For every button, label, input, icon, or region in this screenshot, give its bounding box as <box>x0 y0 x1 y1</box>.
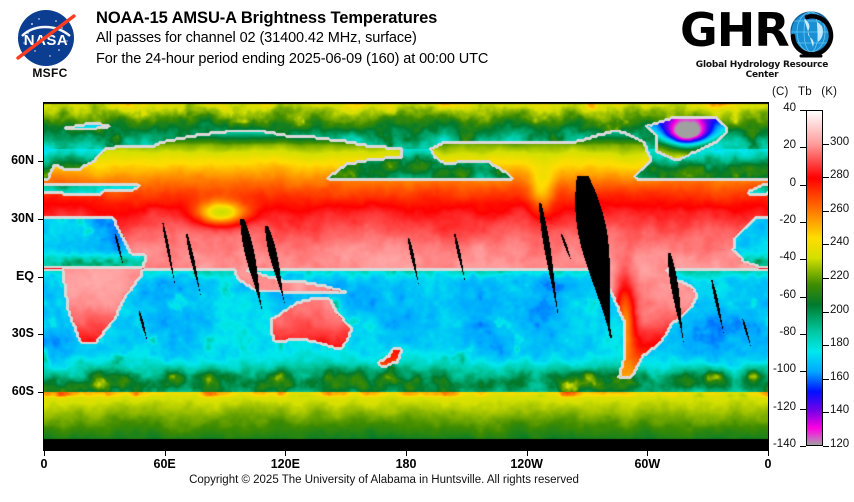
colorbar-unit-kelvin: (K) <box>821 86 837 98</box>
svg-text:GHR: GHR <box>680 6 789 57</box>
lon-tick <box>406 450 407 456</box>
colorbar-unit-celsius: (C) <box>772 86 789 98</box>
colorbar-kelvin-label: 260 <box>830 203 849 215</box>
lat-label-60n: 60N <box>11 153 34 167</box>
colorbar-kelvin-label: 160 <box>830 371 849 383</box>
colorbar-kelvin-label: 280 <box>830 169 849 181</box>
colorbar-celsius-label: -40 <box>758 251 796 263</box>
colorbar-kelvin-label: 300 <box>830 136 849 148</box>
ghrc-wordmark-svg: GHR <box>680 6 840 58</box>
lon-tick <box>44 450 45 456</box>
colorbar-gradient <box>806 110 823 446</box>
lat-tick <box>38 219 44 220</box>
lon-tick <box>768 450 769 456</box>
lon-label-4: 120W <box>497 457 557 471</box>
subtitle-channel: All passes for channel 02 (31400.42 MHz,… <box>96 28 488 49</box>
lon-label-1: 60E <box>135 457 195 471</box>
colorbar-tick <box>823 446 829 447</box>
lon-label-6: 0 <box>738 457 798 471</box>
lat-label-30n: 30N <box>11 211 34 225</box>
colorbar-tick <box>800 371 806 372</box>
lon-label-5: 60W <box>617 457 677 471</box>
colorbar-celsius-label: -20 <box>758 214 796 226</box>
lat-tick <box>38 277 44 278</box>
colorbar-tick <box>800 147 806 148</box>
subtitle-period: For the 24-hour period ending 2025-06-09… <box>96 49 488 70</box>
colorbar-kelvin-label: 180 <box>830 337 849 349</box>
colorbar-celsius-label: -140 <box>758 438 796 450</box>
colorbar-celsius-label: -80 <box>758 326 796 338</box>
colorbar-tick <box>800 222 806 223</box>
lat-label-eq: EQ <box>16 269 34 283</box>
msfc-label: MSFC <box>12 66 88 80</box>
colorbar-tick <box>800 446 806 447</box>
brightness-temperature-map[interactable] <box>44 103 768 450</box>
colorbar-celsius-label: 20 <box>758 139 796 151</box>
colorbar-tick <box>800 297 806 298</box>
colorbar-kelvin-label: 240 <box>830 236 849 248</box>
colorbar-tick <box>823 312 829 313</box>
colorbar-tick <box>800 409 806 410</box>
colorbar-celsius-label: 0 <box>758 177 796 189</box>
lon-label-0: 0 <box>14 457 74 471</box>
colorbar-celsius-label: 40 <box>758 102 796 114</box>
colorbar-tick <box>823 244 829 245</box>
colorbar-celsius-label: -120 <box>758 401 796 413</box>
lon-tick <box>285 450 286 456</box>
lon-tick <box>527 450 528 456</box>
lat-label-30s: 30S <box>12 326 34 340</box>
colorbar-tick <box>823 278 829 279</box>
colorbar-tick <box>800 110 806 111</box>
colorbar-tick <box>823 412 829 413</box>
colorbar-kelvin-label: 200 <box>830 304 849 316</box>
copyright-notice: Copyright © 2025 The University of Alaba… <box>0 474 768 486</box>
colorbar-celsius-label: -100 <box>758 363 796 375</box>
page-title: NOAA-15 AMSU-A Brightness Temperatures <box>96 8 488 28</box>
lon-label-3: 180 <box>376 457 436 471</box>
lat-label-60s: 60S <box>12 384 34 398</box>
colorbar-tick <box>800 259 806 260</box>
lat-tick <box>38 334 44 335</box>
colorbar-tick <box>823 144 829 145</box>
colorbar-kelvin-label: 120 <box>830 438 849 450</box>
globe-icon <box>791 12 831 57</box>
colorbar-tick <box>823 379 829 380</box>
lon-label-2: 120E <box>255 457 315 471</box>
colorbar-tick <box>823 177 829 178</box>
svg-text:NASA: NASA <box>24 32 69 49</box>
ghrc-logo: GHR Global Hydrology Resource Center <box>680 4 840 80</box>
colorbar[interactable] <box>806 110 823 446</box>
colorbar-tick <box>823 345 829 346</box>
colorbar-tick <box>800 334 806 335</box>
title-block: NOAA-15 AMSU-A Brightness Temperatures A… <box>96 8 488 70</box>
map-panel[interactable] <box>44 103 768 450</box>
colorbar-kelvin-label: 140 <box>830 404 849 416</box>
lon-tick <box>647 450 648 456</box>
colorbar-kelvin-label: 220 <box>830 270 849 282</box>
ghrc-tagline: Global Hydrology Resource Center <box>684 60 840 80</box>
lat-tick <box>38 161 44 162</box>
colorbar-tick <box>800 185 806 186</box>
ghrc-wordmark: GHR <box>680 6 840 54</box>
colorbar-tick <box>823 211 829 212</box>
colorbar-header: (C) Tb (K) <box>772 86 854 98</box>
colorbar-variable: Tb <box>798 86 812 98</box>
colorbar-celsius-label: -60 <box>758 289 796 301</box>
lon-tick <box>165 450 166 456</box>
lat-tick <box>38 392 44 393</box>
